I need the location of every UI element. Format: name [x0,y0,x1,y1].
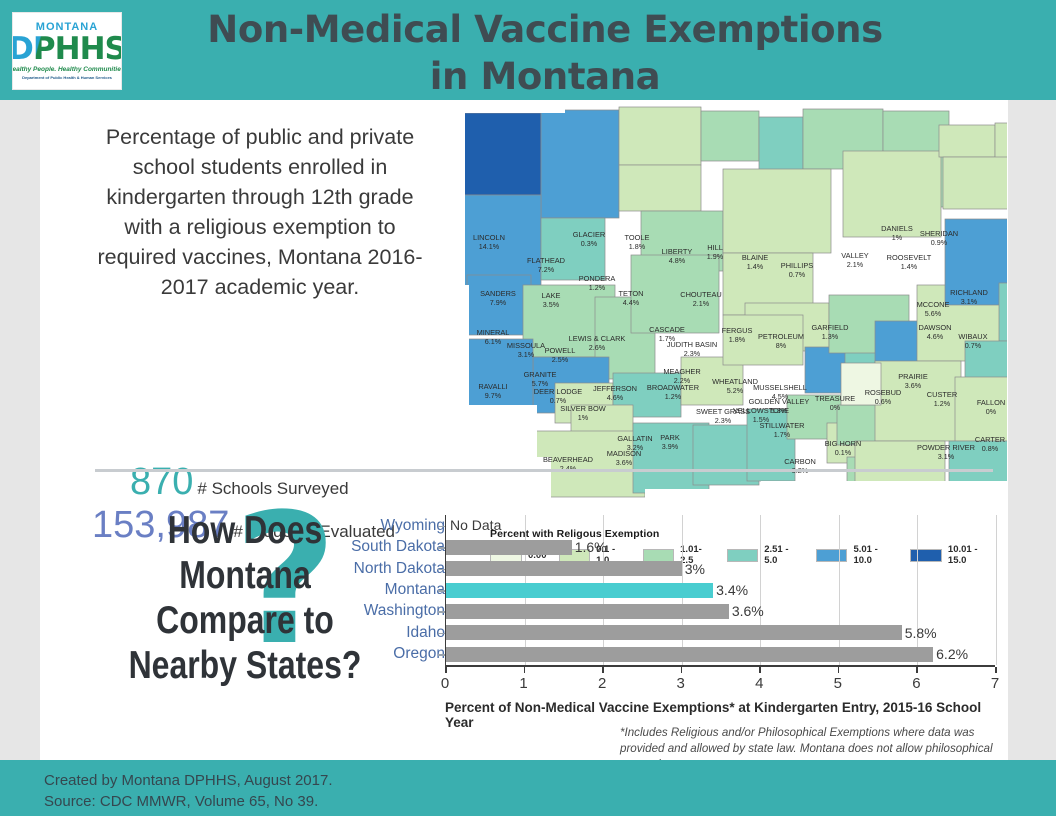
map-county-value-label: 4.6% [607,393,624,402]
page-title-line2: in Montana [130,53,960,100]
stat-schools-value: 870 [130,462,193,502]
map-county-value-label: 5.6% [925,309,942,318]
chart-x-tick-label: 5 [834,675,842,693]
chart-category-label: South Dakota [351,539,445,555]
state-comparison-bar-chart: WyomingSouth DakotaNorth DakotaMontanaWa… [375,515,995,715]
map-county-name-label: SANDERS [480,289,516,298]
chart-bar[interactable] [446,561,682,576]
map-county-lincoln[interactable] [463,113,541,195]
map-county-value-label: 0.6% [875,397,892,406]
map-county-value-label: 2.6% [589,343,606,352]
chart-y-tick [438,526,445,528]
logo-subline-text: Department of Public Health & Human Serv… [22,75,112,80]
map-county-roosevelt[interactable] [943,157,1007,209]
map-county-daniels[interactable] [939,125,995,157]
footer-banner: Created by Montana DPHHS, August 2017. S… [0,760,1056,816]
map-county-value-label: 14.1% [479,242,500,251]
chart-category-label: North Dakota [354,561,445,577]
chart-bar[interactable] [446,625,902,640]
compare-line-3: Compare to [122,598,368,643]
page-title: Non-Medical Vaccine Exemptions in Montan… [130,6,960,100]
map-county-value-label: 8% [776,341,787,350]
map-county-value-label: 9.7% [485,391,502,400]
chart-x-tick-label: 6 [912,675,920,693]
map-county-name-label: FALLON [977,398,1005,407]
map-county-name-label: BLAINE [742,253,768,262]
map-county-value-label: 1.2% [589,283,606,292]
map-county-value-label: 1.2% [665,392,682,401]
chart-bar-value-label: 3.4% [716,583,748,598]
chart-x-tick-label: 3 [677,675,685,693]
map-county-name-label: WHEATLAND [712,377,758,386]
map-county-name-label: TOOLE [625,233,650,242]
chart-category-label: Washington [364,603,445,619]
map-county-value-label: 3.6% [905,381,922,390]
header-banner: MONTANA DPHHS Healthy People. Healthy Co… [0,0,1056,100]
map-county-name-label: YELLOWSTONE [733,406,789,415]
chart-x-tick-label: 0 [441,675,449,693]
map-county-value-label: 2.1% [847,260,864,269]
map-county-value-label: 0.7% [789,270,806,279]
chart-category-label: Wyoming [381,518,445,534]
map-county-name-label: RAVALLI [478,382,507,391]
map-county-name-label: SHERIDAN [920,229,958,238]
map-county-name-label: PONDERA [579,274,616,283]
map-county-toole[interactable] [701,111,759,161]
map-county-name-label: PETROLEUM [758,332,804,341]
map-county-name-label: SILVER BOW [560,404,605,413]
map-county-name-label: FERGUS [722,326,753,335]
map-county-name-label: LAKE [542,291,561,300]
chart-y-tick [438,633,445,635]
map-county-name-label: POWELL [545,346,576,355]
map-county-name-label: DEER LODGE [534,387,583,396]
map-county-name-label: TREASURE [815,394,855,403]
map-county-value-label: 0% [830,403,841,412]
map-county-value-label: 2.3% [684,349,701,358]
chart-x-axis [445,665,995,667]
map-county-value-label: 1.4% [901,262,918,271]
map-county-value-label: 7.9% [490,298,507,307]
chart-bar-value-label: 1.6% [575,540,607,555]
map-county-name-label: CHOUTEAU [680,290,721,299]
map-county-value-label: 4.8% [669,256,686,265]
map-county-name-label: DANIELS [881,224,913,233]
map-county-value-label: 0.8% [982,444,999,453]
map-county-name-label: JEFFERSON [593,384,637,393]
chart-bar[interactable] [446,583,713,598]
footer-source: Source: CDC MMWR, Volume 65, No 39. [44,791,333,812]
map-county-value-label: 4.4% [623,298,640,307]
map-county-value-label: 2.5% [552,355,569,364]
logo-acronym-text: DPHHS [12,34,122,64]
map-county-value-label: 3.1% [518,350,535,359]
map-county-name-label: HILL [707,243,723,252]
map-county-name-label: MUSSELSHELL [753,383,807,392]
map-county-name-label: MADISON [607,449,642,458]
map-county-name-label: CUSTER [927,390,957,399]
description-text: Percentage of public and private school … [85,122,435,302]
map-county-name-label: LIBERTY [662,247,693,256]
chart-x-tick [995,667,997,673]
compare-line-4: Nearby States? [122,643,368,688]
map-county-name-label: MEAGHER [663,367,700,376]
footer-created-by: Created by Montana DPHHS, August 2017. [44,770,333,791]
chart-bar-value-label: 5.8% [905,626,937,641]
map-county-pondera[interactable] [619,165,701,211]
map-county-value-label: 1.9% [707,252,724,261]
map-county-value-label: 7.2% [538,265,555,274]
logo-tagline-text: Healthy People. Healthy Communities. [12,66,122,73]
map-county-name-label: DAWSON [919,323,952,332]
chart-bar-value-label: 6.2% [936,647,968,662]
map-county-name-label: LEWIS & CLARK [569,334,626,343]
map-county-value-label: 0.9% [931,238,948,247]
map-county-name-label: CARBON [784,457,816,466]
map-county-value-label: 2.3% [715,416,732,425]
map-county-name-label: CARTER [975,435,1005,444]
map-county-name-label: GRANITE [524,370,557,379]
map-county-name-label: CASCADE [649,325,685,334]
chart-bar[interactable] [446,540,572,555]
dphhs-logo: MONTANA DPHHS Healthy People. Healthy Co… [12,12,122,90]
chart-x-tick [524,667,526,673]
chart-bar[interactable] [446,647,933,662]
map-county-name-label: GOLDEN VALLEY [749,397,810,406]
map-county-value-label: 0.3% [581,239,598,248]
map-county-value-label: 0.7% [965,341,982,350]
chart-gridline [996,515,997,665]
chart-gridline [917,515,918,665]
chart-plot-area: No Data1.6%3%3.4%3.6%5.8%6.2% [445,515,995,665]
chart-y-tick [438,611,445,613]
content-area: Percentage of public and private school … [0,100,1056,760]
chart-x-tick-label: 7 [991,675,999,693]
map-county-name-label: GARFIELD [812,323,849,332]
chart-gridline [760,515,761,665]
map-county-name-label: MINERAL [477,328,510,337]
map-county-name-label: PRAIRIE [898,372,928,381]
map-county-name-label: VALLEY [841,251,868,260]
chart-y-tick [438,654,445,656]
chart-x-tick [445,667,447,673]
infographic-page: MONTANA DPHHS Healthy People. Healthy Co… [0,0,1056,816]
chart-x-tick [759,667,761,673]
map-county-value-label: 3.1% [961,297,978,306]
chart-bar-value-label: 3% [685,562,705,577]
map-county-name-label: GALLATIN [617,434,652,443]
map-county-value-label: 3.9% [662,442,679,451]
map-county-custer[interactable] [955,377,1007,441]
map-svg: LINCOLN14.1%FLATHEAD7.2%GLACIER0.3%TOOLE… [445,105,1007,525]
section-divider [95,469,993,472]
map-county-name-label: ROOSEVELT [887,253,932,262]
map-county-value-label: 1.3% [822,332,839,341]
chart-x-tick [838,667,840,673]
chart-x-tick-label: 4 [755,675,763,693]
chart-gridline [839,515,840,665]
map-county-value-label: 0% [986,407,997,416]
map-county-liberty[interactable] [759,117,803,173]
compare-line-2: Montana [122,553,368,598]
compare-line-1: How Does [122,508,368,553]
montana-county-map: LINCOLN14.1%FLATHEAD7.2%GLACIER0.3%TOOLE… [445,105,1007,525]
chart-y-tick [438,590,445,592]
chart-y-tick [438,547,445,549]
map-county-value-label: 6.1% [485,337,502,346]
map-county-name-label: FLATHEAD [527,256,565,265]
map-county-name-label: POWDER RIVER [917,443,975,452]
footer-credits: Created by Montana DPHHS, August 2017. S… [44,770,333,812]
map-county-name-label: BIG HORN [825,439,862,448]
map-county-name-label: MISSOULA [507,341,545,350]
chart-x-tick-label: 1 [519,675,527,693]
map-county-value-label: 3.1% [938,452,955,461]
page-title-line1: Non-Medical Vaccine Exemptions [130,6,960,53]
chart-x-tick [681,667,683,673]
map-county-name-label: GLACIER [573,230,605,239]
chart-y-tick [438,569,445,571]
map-county-value-label: 1.8% [729,335,746,344]
map-county-name-label: LINCOLN [473,233,505,242]
map-county-name-label: RICHLAND [950,288,988,297]
map-county-glacier[interactable] [619,107,701,165]
map-county-value-label: 1.8% [629,242,646,251]
chart-x-tick [602,667,604,673]
map-mask [445,105,565,113]
map-county-value-label: 3.5% [543,300,560,309]
chart-category-labels: WyomingSouth DakotaNorth DakotaMontanaWa… [375,515,445,665]
map-county-value-label: 1.4% [747,262,764,271]
map-county-value-label: 1.2% [934,399,951,408]
chart-x-tick [916,667,918,673]
map-county-value-label: 1% [578,413,589,422]
map-county-value-label: 1% [892,233,903,242]
chart-no-data-label: No Data [450,518,501,533]
map-county-value-label: 3.6% [616,458,633,467]
compare-headline-text: How Does Montana Compare to Nearby State… [122,508,368,688]
chart-x-tick-label: 2 [598,675,606,693]
content-panel: Percentage of public and private school … [40,100,1008,760]
chart-bar-value-label: 3.6% [732,604,764,619]
map-county-name-label: TETON [619,289,644,298]
compare-headline-block: ? How Does Montana Compare to Nearby Sta… [95,500,395,700]
map-mask [445,105,465,305]
map-county-value-label: 5.2% [727,386,744,395]
map-county-value-label: 4.6% [927,332,944,341]
map-county-name-label: PHILLIPS [781,261,814,270]
map-county-value-label: 0.1% [835,448,852,457]
map-county-name-label: PARK [660,433,680,442]
map-county-name-label: MCCONE [917,300,950,309]
map-county-name-label: STILLWATER [759,421,804,430]
map-county-name-label: ROSEBUD [865,388,902,397]
chart-category-label: Montana [385,582,445,598]
map-county-dawson[interactable] [999,283,1007,341]
map-county-flathead[interactable] [541,110,619,218]
map-county-name-label: BROADWATER [647,383,699,392]
chart-bar[interactable] [446,604,729,619]
map-county-value-label: 1.7% [774,430,791,439]
map-county-chouteau[interactable] [723,169,831,253]
map-county-name-label: WIBAUX [958,332,987,341]
map-county-name-label: JUDITH BASIN [667,340,718,349]
map-county-name-label: BEAVERHEAD [543,455,593,464]
map-county-value-label: 2.1% [693,299,710,308]
